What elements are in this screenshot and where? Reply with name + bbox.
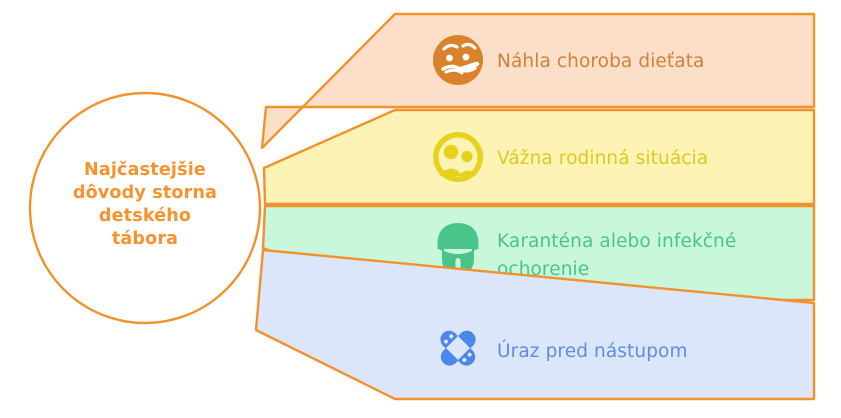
central-hub[interactable]: Najčastejšie dôvody storna detského tábo… bbox=[30, 93, 260, 323]
band-4-label: Úraz pred nástupom bbox=[497, 340, 688, 362]
band-row-2[interactable]: Vážna rodinná situácia bbox=[264, 110, 814, 204]
hub-title-line1: Najčastejšie bbox=[84, 160, 206, 180]
band-1-label: Náhla choroba dieťata bbox=[497, 51, 705, 72]
band-2-label: Vážna rodinná situácia bbox=[497, 148, 708, 169]
hub-title-line3: detského bbox=[99, 206, 191, 226]
hub-title-line2: dôvody storna bbox=[73, 183, 217, 203]
band-3-label-line1: Karanténa alebo infekčné bbox=[497, 231, 736, 252]
funnel-diagram: Náhla choroba dieťata Vážna rodinná situ… bbox=[0, 0, 841, 418]
family-group-icon bbox=[433, 132, 483, 182]
hub-title-line4: tábora bbox=[112, 229, 178, 249]
sick-face-icon bbox=[433, 35, 483, 85]
infographic-root: Náhla choroba dieťata Vážna rodinná situ… bbox=[0, 0, 841, 418]
